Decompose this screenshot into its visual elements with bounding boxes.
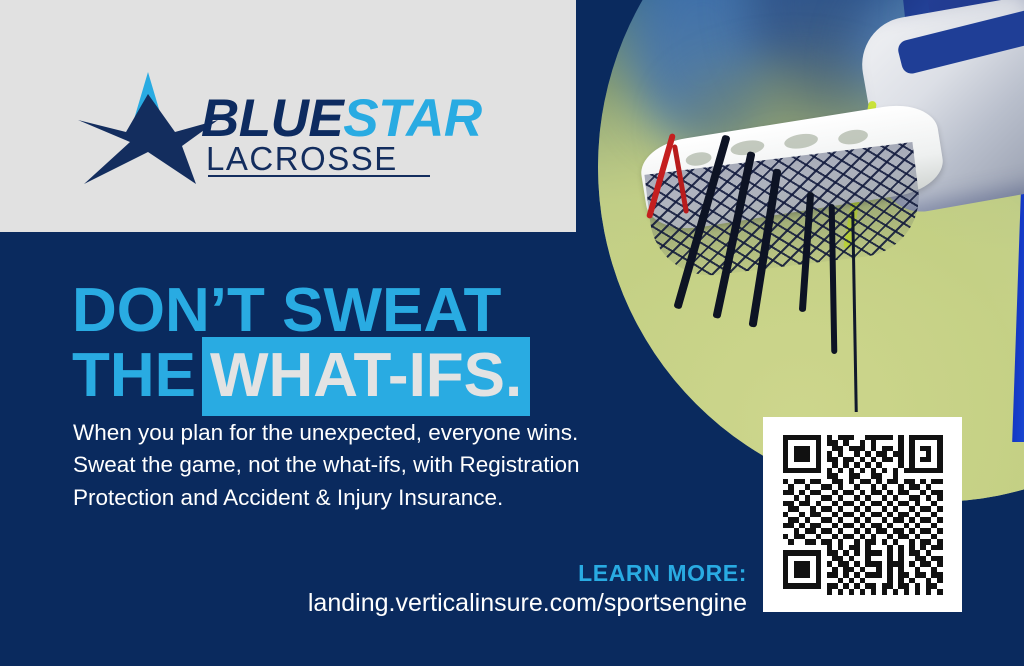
marketing-banner: BLUESTAR LACROSSE DON’T SWEAT THEWHAT-IF… bbox=[0, 0, 1024, 666]
landing-url[interactable]: landing.verticalinsure.com/sportsengine bbox=[300, 589, 747, 618]
body-line-2: Sweat the game, not the what-ifs, with R… bbox=[73, 449, 613, 481]
logo-underline bbox=[208, 175, 430, 177]
body-line-3: Protection and Accident & Injury Insuran… bbox=[73, 482, 613, 514]
call-to-action: LEARN MORE: landing.verticalinsure.com/s… bbox=[300, 560, 747, 618]
logo-wordmark: BLUESTAR bbox=[201, 92, 482, 145]
logo-subtitle: LACROSSE bbox=[206, 142, 398, 175]
blue-star-icon bbox=[78, 72, 218, 184]
page-title: DON’T SWEAT THEWHAT-IFS. bbox=[72, 281, 530, 407]
headline-highlight: WHAT-IFS. bbox=[202, 337, 530, 416]
learn-more-label: LEARN MORE: bbox=[300, 560, 747, 587]
bluestar-lacrosse-logo: BLUESTAR LACROSSE bbox=[78, 72, 498, 190]
body-line-1: When you plan for the unexpected, everyo… bbox=[73, 417, 613, 449]
headline-line-2: THEWHAT-IFS. bbox=[72, 346, 530, 407]
body-copy: When you plan for the unexpected, everyo… bbox=[73, 417, 613, 514]
qr-code-container[interactable] bbox=[763, 417, 962, 612]
headline-line-1: DON’T SWEAT bbox=[72, 281, 530, 342]
qr-code[interactable] bbox=[783, 435, 943, 595]
headline-the: THE bbox=[72, 341, 196, 410]
